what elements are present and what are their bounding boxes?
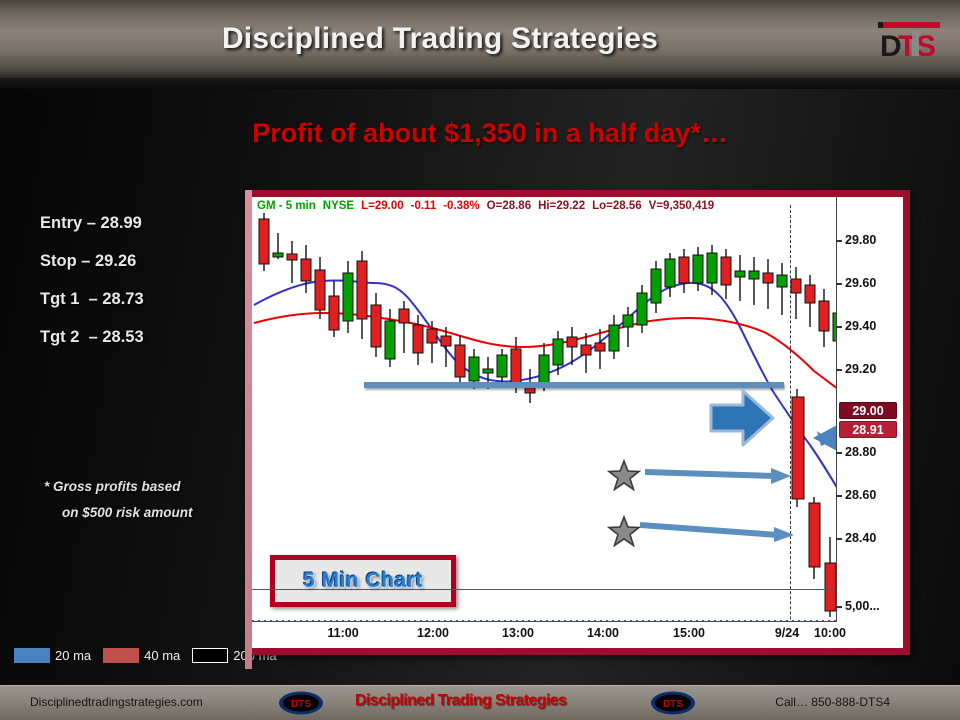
chart-timeframe-badge: 5 Min Chart (270, 555, 456, 607)
legend-item-40ma: 40 ma (103, 648, 180, 663)
footer-brand-text: Disciplined Trading Strategies (355, 692, 566, 710)
time-axis: 11:00 12:00 13:00 14:00 15:00 9/24 10:00 (252, 621, 837, 648)
volume-panel-separator (252, 589, 837, 590)
footnote-line-2: on $500 risk amount (44, 500, 254, 526)
price-tick-28-40: 28.40 (837, 531, 876, 545)
svg-text:DTS: DTS (663, 699, 683, 710)
header-bar: Disciplined Trading Strategies D T S (0, 0, 960, 78)
legend-swatch-40ma (103, 648, 139, 663)
time-tick-1300: 13:00 (502, 626, 534, 640)
target-2-arrow-icon (640, 519, 800, 548)
footnote-text: * Gross profits based on $500 risk amoun… (44, 474, 254, 526)
price-tick-29-80: 29.80 (837, 233, 876, 247)
trade-plan-list: Entry – 28.99 Stop – 29.26 Tgt 1 – 28.73… (40, 214, 240, 366)
price-tick-28-80: 28.80 (837, 445, 876, 459)
page-title: Disciplined Trading Strategies (0, 22, 880, 56)
dts-logo-icon: D T S (872, 18, 950, 62)
target-1-star-icon (607, 459, 641, 498)
time-tick-1400: 14:00 (587, 626, 619, 640)
time-tick-1200: 12:00 (417, 626, 449, 640)
svg-text:DTS: DTS (291, 699, 311, 710)
target-2-star-icon (607, 515, 641, 554)
legend-swatch-200ma (192, 648, 228, 663)
legend-label-40ma: 40 ma (144, 648, 180, 663)
subtitle-text: Profit of about $1,350 in a half day*… (0, 118, 960, 149)
time-tick-1000: 10:00 (814, 626, 846, 640)
price-box-last: 29.00 (839, 402, 897, 419)
footer-dts-logo-left-icon: DTS (278, 691, 324, 715)
price-axis: 29.80 29.60 29.40 29.20 29.00 28.91 28.8… (836, 197, 903, 648)
footnote-line-1: * Gross profits based (44, 479, 181, 494)
price-tick-29-60: 29.60 (837, 276, 876, 290)
legend-label-20ma: 20 ma (55, 648, 91, 663)
volume-tick-label: 5,00... (837, 599, 880, 613)
trade-plan-stop: Stop – 29.26 (40, 252, 240, 271)
time-tick-1500: 15:00 (673, 626, 705, 640)
footer-bar: Disciplinedtradingstrategies.com DTS Dis… (0, 685, 960, 720)
trade-plan-target-2: Tgt 2 – 28.53 (40, 328, 240, 347)
chart-plot-area: GM - 5 minNYSEL=29.00-0.11-0.38%O=28.86H… (252, 197, 903, 648)
price-tick-29-40: 29.40 (837, 319, 876, 333)
legend-item-20ma: 20 ma (14, 648, 91, 663)
price-box-close: 28.91 (839, 421, 897, 438)
footer-dts-logo-right-icon: DTS (650, 691, 696, 715)
slide-canvas: Disciplined Trading Strategies D T S Pro… (0, 0, 960, 720)
target-1-arrow-icon (645, 465, 795, 492)
trade-plan-target-1: Tgt 1 – 28.73 (40, 290, 240, 309)
price-chart: GM - 5 minNYSEL=29.00-0.11-0.38%O=28.86H… (245, 190, 910, 655)
trade-plan-entry: Entry – 28.99 (40, 214, 240, 233)
svg-text:S: S (916, 30, 936, 62)
time-tick-date: 9/24 (775, 626, 799, 640)
time-tick-1100: 11:00 (327, 626, 358, 640)
price-tick-28-60: 28.60 (837, 488, 876, 502)
footer-website-url[interactable]: Disciplinedtradingstrategies.com (30, 695, 203, 709)
footer-phone-text: Call… 850-888-DTS4 (775, 695, 890, 709)
breakdown-block-arrow-icon (707, 387, 777, 454)
legend-swatch-20ma (14, 648, 50, 663)
price-tick-29-20: 29.20 (837, 362, 876, 376)
